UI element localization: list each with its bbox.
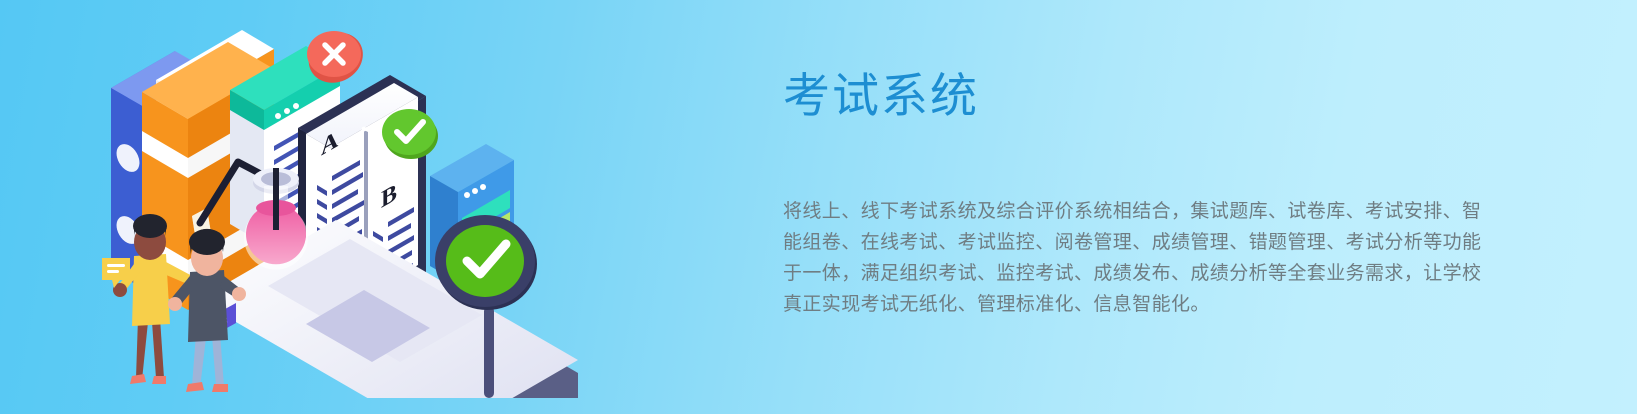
page-title: 考试系统 xyxy=(783,70,1503,123)
flask-icon xyxy=(244,168,308,270)
exam-system-illustration: A B xyxy=(78,18,578,398)
hero-banner: A B xyxy=(0,0,1637,414)
page-description: 将线上、线下考试系统及综合评价系统相结合，集试题库、试卷库、考试安排、智能组卷、… xyxy=(783,123,1483,320)
banner-copy: 考试系统 将线上、线下考试系统及综合评价系统相结合，集试题库、试卷库、考试安排、… xyxy=(783,70,1503,320)
